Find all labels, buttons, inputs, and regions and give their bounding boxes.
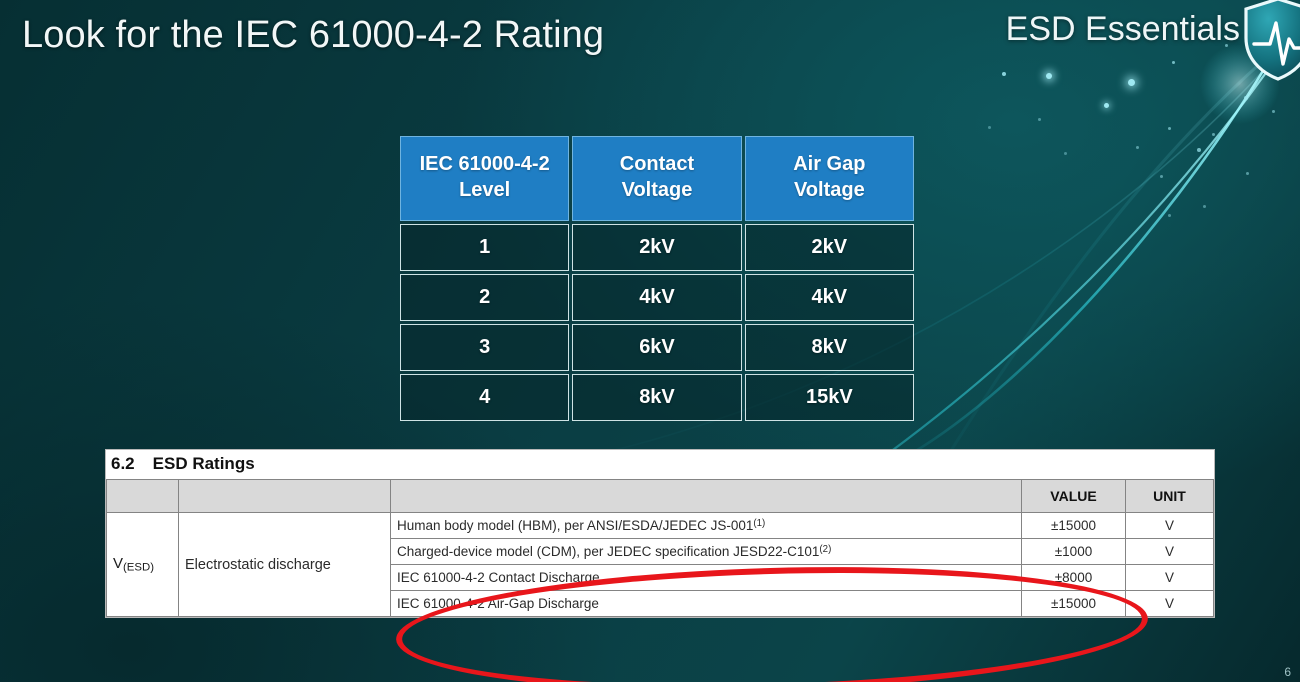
symbol-base: V: [113, 555, 123, 572]
cell-description: Human body model (HBM), per ANSI/ESDA/JE…: [391, 513, 1022, 539]
column-header-level: IEC 61000-4-2 Level: [400, 136, 569, 221]
header-line-2: Voltage: [794, 179, 865, 201]
cell-level: 1: [400, 224, 569, 271]
cell-level: 3: [400, 324, 569, 371]
particle-dot: [1038, 118, 1041, 121]
cell-airgap: 4kV: [745, 274, 914, 321]
column-header-value: VALUE: [1022, 480, 1126, 513]
cell-unit: V: [1126, 565, 1214, 591]
page-number: 6: [1284, 665, 1291, 679]
cell-contact: 8kV: [572, 374, 741, 421]
brand-title: ESD Essentials: [1006, 10, 1240, 49]
particle-dot: [1136, 146, 1139, 149]
table-row: V(ESD) Electrostatic discharge Human bod…: [107, 513, 1214, 539]
cell-value: ±15000: [1022, 591, 1126, 617]
cell-unit: V: [1126, 591, 1214, 617]
description-text: Human body model (HBM), per ANSI/ESDA/JE…: [397, 518, 753, 533]
cell-contact: 4kV: [572, 274, 741, 321]
column-header-parameter: [179, 480, 391, 513]
table-row: 2 4kV 4kV: [400, 274, 914, 321]
table-header-row: IEC 61000-4-2 Level Contact Voltage Air …: [400, 136, 914, 221]
particle-dot: [1203, 205, 1206, 208]
particle-dot: [1168, 127, 1171, 130]
header-line-1: Contact: [620, 153, 694, 175]
cell-value: ±8000: [1022, 565, 1126, 591]
column-header-air-gap-voltage: Air Gap Voltage: [745, 136, 914, 221]
footnote-marker: (2): [819, 544, 831, 555]
particle-dot: [1197, 148, 1201, 152]
table-row: 1 2kV 2kV: [400, 224, 914, 271]
cell-unit: V: [1126, 539, 1214, 565]
presentation-slide: Look for the IEC 61000-4-2 Rating ESD Es…: [0, 0, 1300, 682]
esd-ratings-table: VALUE UNIT V(ESD) Electrostatic discharg…: [106, 479, 1214, 617]
footnote-marker: (1): [753, 518, 765, 529]
cell-unit: V: [1126, 513, 1214, 539]
column-header-unit: UNIT: [1126, 480, 1214, 513]
cell-level: 4: [400, 374, 569, 421]
header-line-2: Voltage: [622, 179, 693, 201]
column-header-symbol: [107, 480, 179, 513]
header-line-1: Air Gap: [793, 153, 865, 175]
cell-contact: 2kV: [572, 224, 741, 271]
cell-value: ±15000: [1022, 513, 1126, 539]
particle-dot: [1002, 72, 1006, 76]
column-header-contact-voltage: Contact Voltage: [572, 136, 741, 221]
particle-dot: [1168, 214, 1171, 217]
cell-description: IEC 61000-4-2 Air-Gap Discharge: [391, 591, 1022, 617]
table-row: 4 8kV 15kV: [400, 374, 914, 421]
cell-description: IEC 61000-4-2 Contact Discharge: [391, 565, 1022, 591]
cell-airgap: 8kV: [745, 324, 914, 371]
section-number: 6.2: [111, 454, 135, 473]
symbol-subscript: (ESD): [123, 562, 154, 574]
particle-dot: [1272, 110, 1275, 113]
cell-contact: 6kV: [572, 324, 741, 371]
column-header-description: [391, 480, 1022, 513]
cell-value: ±1000: [1022, 539, 1126, 565]
header-line-1: IEC 61000-4-2: [420, 153, 550, 175]
description-text: Charged-device model (CDM), per JEDEC sp…: [397, 544, 819, 559]
particle-dot: [1172, 61, 1175, 64]
section-title: ESD Ratings: [153, 454, 255, 473]
cell-symbol: V(ESD): [107, 513, 179, 617]
cell-airgap: 2kV: [745, 224, 914, 271]
particle-dot: [1212, 133, 1215, 136]
particle-dot: [1064, 152, 1067, 155]
table-row: 3 6kV 8kV: [400, 324, 914, 371]
particle-dot: [1104, 103, 1109, 108]
slide-title: Look for the IEC 61000-4-2 Rating: [22, 14, 604, 57]
particle-dot: [988, 126, 991, 129]
particle-dot: [1046, 73, 1052, 79]
table-header-row: VALUE UNIT: [107, 480, 1214, 513]
particle-dot: [1244, 96, 1248, 100]
cell-level: 2: [400, 274, 569, 321]
cell-description: Charged-device model (CDM), per JEDEC sp…: [391, 539, 1022, 565]
header-line-2: Level: [459, 179, 510, 201]
particle-dot: [1128, 79, 1135, 86]
particle-dot: [1160, 175, 1163, 178]
datasheet-excerpt: 6.2ESD Ratings VALUE UNIT V(ESD) Electro…: [105, 449, 1215, 618]
cell-airgap: 15kV: [745, 374, 914, 421]
iec-level-table: IEC 61000-4-2 Level Contact Voltage Air …: [397, 133, 917, 424]
shield-pulse-icon: [1242, 0, 1300, 82]
datasheet-section-heading: 6.2ESD Ratings: [106, 450, 1214, 479]
particle-dot: [1246, 172, 1249, 175]
cell-parameter: Electrostatic discharge: [179, 513, 391, 617]
